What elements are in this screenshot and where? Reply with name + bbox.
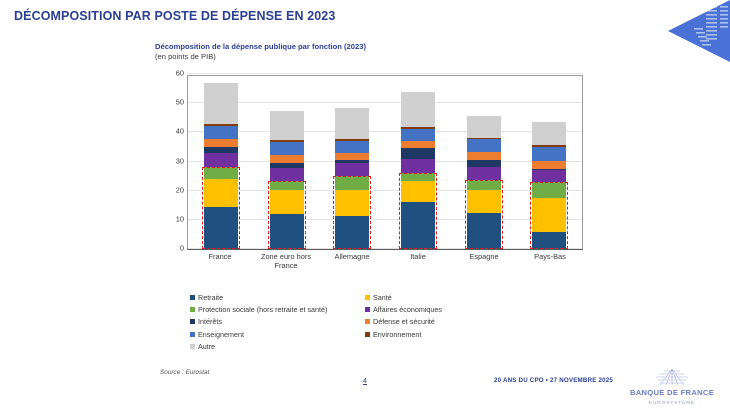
bar-segment[interactable] [401,181,435,201]
bar-segment[interactable] [270,190,304,213]
bar-segment[interactable] [467,213,501,249]
legend-item[interactable]: Autre [190,342,365,351]
bar-segment[interactable] [335,153,369,160]
bar-segment[interactable] [204,179,238,207]
bar-segment[interactable] [270,142,304,155]
bar-segment[interactable] [204,126,238,139]
bar-segment[interactable] [467,152,501,160]
bar-segment[interactable] [401,141,435,148]
legend-item[interactable]: Environnement [365,330,490,339]
bar-segment[interactable] [532,122,566,144]
bar-segment[interactable] [401,148,435,159]
gridline: 60 [188,73,582,74]
stacked-bar[interactable] [204,83,238,249]
logo-subtitle: EUROSYSTÈME [626,400,718,405]
bar-slot [188,76,254,249]
bar-segment[interactable] [467,190,501,213]
bar-segment[interactable] [204,153,238,168]
stacked-bar[interactable] [270,111,304,250]
footer-event-text: 20 ANS DU CPO • 27 NOVEMBRE 2025 [494,377,613,384]
legend-swatch-icon [365,307,370,312]
legend-item[interactable]: Protection sociale (hors retraite et san… [190,305,365,314]
bar-segment[interactable] [335,141,369,153]
bar-segment[interactable] [467,180,501,190]
bar-segment[interactable] [467,167,501,180]
bar-segment[interactable] [401,173,435,182]
legend-swatch-icon [365,332,370,337]
bar-segment[interactable] [270,181,304,190]
bar-segment[interactable] [401,129,435,141]
legend-row: IntérêtsDéfense et sécurité [190,317,490,326]
bar-segment[interactable] [335,176,369,189]
y-axis-tick: 10 [176,214,184,223]
logo-name: BANQUE DE FRANCE [626,388,718,397]
bar-segment[interactable] [335,216,369,249]
x-axis-label: Espagne [451,252,517,271]
bar-segment[interactable] [532,161,566,169]
legend-swatch-icon [190,295,195,300]
chart-title: Décomposition de la dépense publique par… [155,42,595,52]
bar-segment[interactable] [335,163,369,176]
legend-label: Défense et sécurité [373,317,435,326]
x-axis-label: France [187,252,253,271]
legend-item[interactable]: Affaires économiques [365,305,490,314]
legend-swatch-icon [190,332,195,337]
legend-row: Autre [190,342,490,351]
legend-item [365,342,490,351]
banque-de-france-logo: BANQUE DE FRANCE EUROSYSTÈME [626,367,718,405]
legend-label: Santé [373,293,392,302]
x-axis-label: Allemagne [319,252,385,271]
logo-mark-icon [626,367,718,387]
bar-segment[interactable] [467,116,501,137]
bar-segment[interactable] [335,108,369,140]
bar-segment[interactable] [467,139,501,152]
x-axis-label: Italie [385,252,451,271]
y-axis-tick: 60 [176,69,184,78]
stacked-bar[interactable] [401,92,435,249]
legend-item[interactable]: Santé [365,293,490,302]
page-number: 4 [0,378,730,385]
bar-slot [319,76,385,249]
chart-container: Décomposition de la dépense publique par… [155,42,595,294]
legend-item[interactable]: Retraite [190,293,365,302]
legend-row: Protection sociale (hors retraite et san… [190,305,490,314]
source-note: Source : Eurostat [160,369,209,376]
bar-slot [451,76,517,249]
bar-segment[interactable] [532,147,566,161]
y-axis-tick: 40 [176,127,184,136]
bar-segment[interactable] [270,155,304,163]
decorative-corner-graphic [668,0,730,62]
bar-group [188,76,582,249]
stacked-bar[interactable] [532,122,566,249]
bar-segment[interactable] [401,159,435,172]
legend-label: Protection sociale (hors retraite et san… [198,305,327,314]
chart-subtitle: (en points de PIB) [155,52,595,62]
bar-segment[interactable] [270,168,304,181]
page-title: DÉCOMPOSITION PAR POSTE DE DÉPENSE EN 20… [14,9,335,23]
x-axis-label: Pays-Bas [517,252,583,271]
bar-segment[interactable] [270,111,304,141]
plot-outer: 0102030405060 FranceZone euro hors Franc… [155,72,595,294]
bar-segment[interactable] [270,214,304,249]
plot-area: 0102030405060 [187,75,583,250]
legend-swatch-icon [190,344,195,349]
chart-legend: RetraiteSantéProtection sociale (hors re… [190,293,490,354]
x-axis-label: Zone euro hors France [253,252,319,271]
bar-segment[interactable] [204,83,238,124]
bar-slot [254,76,320,249]
legend-item[interactable]: Défense et sécurité [365,317,490,326]
legend-label: Enseignement [198,330,244,339]
legend-label: Affaires économiques [373,305,442,314]
bar-segment[interactable] [532,182,566,198]
x-axis-labels: FranceZone euro hors FranceAllemagneItal… [187,252,583,271]
bar-slot [516,76,582,249]
legend-item[interactable]: Enseignement [190,330,365,339]
y-axis-tick: 0 [180,244,184,253]
bar-segment[interactable] [204,139,238,147]
legend-row: RetraiteSanté [190,293,490,302]
bar-segment[interactable] [401,202,435,249]
bar-segment[interactable] [335,190,369,217]
legend-label: Environnement [373,330,421,339]
legend-swatch-icon [190,307,195,312]
bar-slot [385,76,451,249]
stacked-bar[interactable] [335,108,369,249]
legend-row: EnseignementEnvironnement [190,330,490,339]
bar-segment[interactable] [204,167,238,179]
bar-segment[interactable] [532,232,566,250]
y-axis-tick: 20 [176,185,184,194]
stacked-bar[interactable] [467,116,501,249]
legend-label: Autre [198,342,215,351]
legend-item[interactable]: Intérêts [190,317,365,326]
bar-segment[interactable] [401,92,435,128]
bar-segment[interactable] [532,198,566,232]
bar-segment[interactable] [532,170,566,182]
legend-label: Retraite [198,293,223,302]
legend-label: Intérêts [198,317,222,326]
bar-segment[interactable] [204,207,238,249]
y-axis-tick: 50 [176,98,184,107]
legend-swatch-icon [190,319,195,324]
y-axis-tick: 30 [176,156,184,165]
legend-swatch-icon [365,295,370,300]
legend-swatch-icon [365,319,370,324]
bar-segment[interactable] [467,160,501,167]
